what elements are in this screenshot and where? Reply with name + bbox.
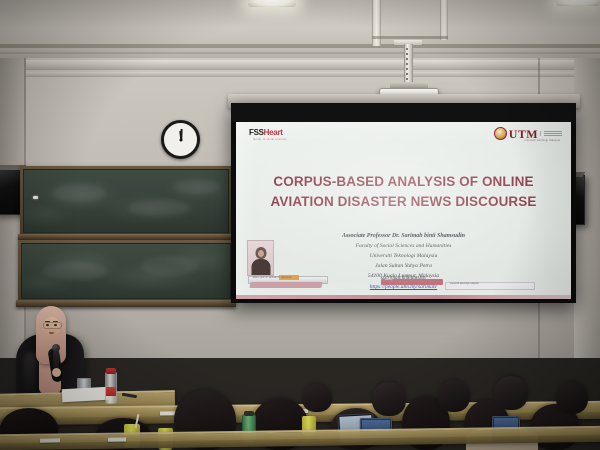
fss-logo-subtitle: faculty of social sciences: [253, 138, 287, 141]
avatar-face: [258, 250, 264, 257]
utm-wordmark: UTM: [509, 128, 538, 140]
badge-3-label: universiti teknologi malaysia: [450, 283, 479, 285]
audience-head: [556, 382, 588, 414]
bottle-cap: [106, 368, 116, 374]
chalk-smudge: [52, 184, 106, 202]
author-avatar: [247, 240, 274, 276]
audience-head: [494, 376, 528, 410]
ceiling-beam: [0, 44, 600, 48]
presenter-hand: [52, 368, 61, 377]
chalkboard-lower-frame: [18, 240, 234, 302]
bottle-label: [106, 387, 116, 396]
wall-molding: [0, 60, 600, 70]
presentation-slide: FSSHeart faculty of social sciences UTM …: [236, 122, 571, 299]
author-name: Associate Professor Dr. Sarimah binti Sh…: [236, 231, 571, 242]
slide-title-line-1: CORPUS-BASED ANALYSIS OF ONLINE: [236, 172, 571, 192]
presenter-glasses: [43, 322, 62, 329]
slide-footer-badge-2: utm.my: [381, 279, 443, 285]
projection-screen: FSSHeart faculty of social sciences UTM …: [231, 103, 576, 303]
chalk-smudge: [128, 200, 190, 216]
chalk-piece: [33, 196, 38, 199]
chalkboard-upper-frame: [20, 166, 232, 236]
author-affiliation-2: Universiti Teknologi Malaysia: [236, 252, 571, 262]
badge-1-label: assoc. prof. dr. sarimah bt. shamsudin: [253, 277, 292, 279]
utm-seal-icon: [494, 127, 507, 140]
avatar-body: [251, 259, 270, 275]
author-address-1: Jalan Sultan Yahya Petra: [236, 262, 571, 272]
ceiling: [0, 0, 600, 62]
chalkboard-upper: [23, 169, 229, 233]
fss-heart-logo: FSSHeart: [249, 129, 283, 137]
water-bottle: [105, 372, 117, 404]
badge-2-label: utm.my: [385, 279, 393, 281]
fss-logo-part-b: Heart: [264, 128, 283, 137]
desk-note: [40, 438, 60, 442]
projector-mount-pole: [404, 44, 413, 84]
desk-papers: [62, 387, 109, 402]
utm-logo-rules: [540, 131, 562, 136]
chalkboard-lower: [21, 243, 231, 299]
flask-cap: [244, 411, 254, 416]
chalk-smudge: [42, 262, 108, 280]
lecture-hall-photograph: FSSHeart faculty of social sciences UTM …: [0, 0, 600, 450]
wall-clock-icon: [161, 120, 200, 159]
wall-molding: [0, 72, 600, 77]
slide-title: CORPUS-BASED ANALYSIS OF ONLINE AVIATION…: [236, 172, 571, 211]
screen-letterbox: [231, 103, 576, 122]
slide-footer-ribbon: [249, 282, 322, 288]
ceiling-truss: [372, 0, 381, 46]
slide-accent-band: [236, 295, 571, 299]
utm-logo-subtitle: universiti teknologi malaysia: [524, 139, 560, 142]
chalk-smudge: [140, 256, 198, 276]
fss-logo-part-a: FSS: [249, 128, 264, 137]
author-affiliation-1: Faculty of Social Sciences and Humanitie…: [236, 242, 571, 252]
chalk-smudge: [174, 180, 220, 194]
slide-footer-badge-3: universiti teknologi malaysia: [445, 282, 535, 290]
audience-head: [438, 380, 470, 412]
ceiling-truss: [440, 0, 448, 40]
slide-title-line-2: AVIATION DISASTER NEWS DISCOURSE: [236, 192, 571, 212]
ceiling-light: [556, 0, 600, 6]
clock-center: [179, 138, 182, 141]
ceiling-beam: [372, 36, 448, 39]
audience-head: [372, 382, 406, 416]
microphone-head-icon: [52, 344, 60, 352]
desk-note: [108, 437, 126, 441]
ceiling-light: [248, 0, 296, 7]
ceiling-beam: [0, 52, 600, 54]
audience-head: [302, 384, 332, 412]
